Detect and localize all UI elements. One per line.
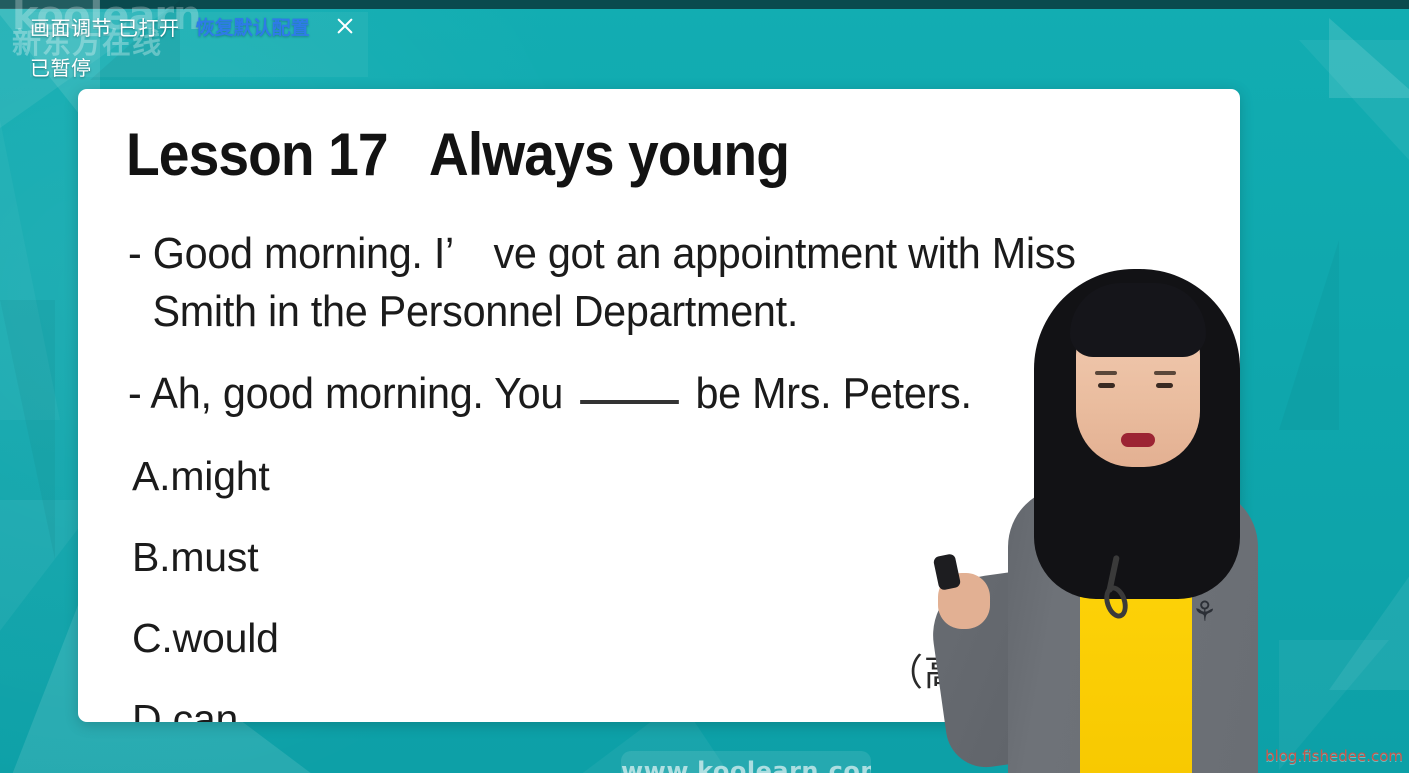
dialogue-text-1b: Smith in the Personnel Department. [152, 283, 1145, 341]
top-dark-bar [0, 0, 1409, 9]
osd-title: 画面调节 已打开 [30, 12, 180, 41]
slide-title: Lesson 17 Always young [126, 120, 1123, 189]
dialogue-text-2a: Ah, good morning. You [150, 369, 563, 418]
reset-defaults-link[interactable]: 恢复默认配置 [196, 13, 310, 40]
option-a[interactable]: A.might [132, 453, 1210, 500]
dialogue-text-1a: Good morning. I’ ve got an appointment w… [153, 229, 1076, 278]
dialogue-line-1: - Good morning. I’ ve got an appointment… [128, 225, 1145, 341]
dialogue-text-2b: be Mrs. Peters. [695, 369, 971, 418]
blog-watermark: blog.fishedee.com [1265, 747, 1403, 765]
close-icon[interactable] [332, 13, 358, 39]
dialogue-dash: - [128, 229, 141, 278]
bg-polygon [1279, 240, 1339, 430]
osd-notification: 画面调节 已打开 恢复默认配置 已暂停 [30, 12, 368, 77]
video-player-screen[interactable]: koolearn 新东方在线 Lesson 17 Always young - … [0, 0, 1409, 773]
dialogue-dash: - [128, 369, 141, 418]
dialogue-line-2: - Ah, good morning. You be Mrs. Peters. [128, 369, 1145, 419]
bg-polygon [1299, 40, 1409, 160]
koolearn-url-watermark: www.koolearn.com [621, 751, 871, 773]
lesson-slide: Lesson 17 Always young - Good morning. I… [78, 89, 1240, 722]
playback-status-label: 已暂停 [30, 52, 368, 81]
blank-underline [580, 400, 679, 404]
option-b[interactable]: B.must [132, 534, 1210, 581]
option-d[interactable]: D.can [132, 696, 1210, 722]
bg-polygon [0, 300, 55, 560]
source-note: （高考真题） [886, 642, 1114, 696]
